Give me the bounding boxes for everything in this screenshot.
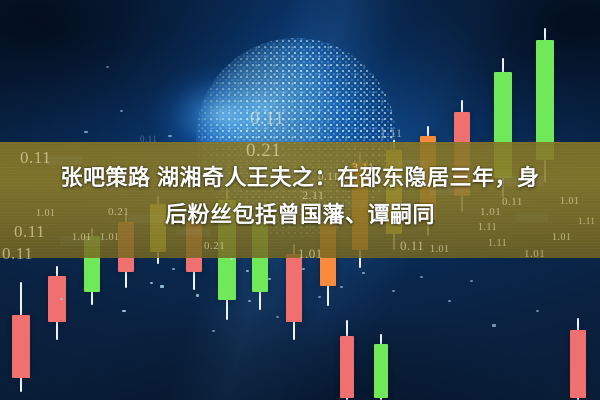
floating-number: 1.01 [298,246,323,262]
floating-number: 1.11 [380,126,403,141]
floating-number: 1.01 [72,232,92,243]
article-cover-image: 0.110.110.211.113.110.112.111.010.111.01… [0,0,600,400]
floating-number: 1.01 [430,244,450,255]
floating-number: 0.11 [140,134,157,144]
floating-number: 0.11 [2,244,33,264]
floating-number: 1.01 [524,248,545,260]
headline-text: 张吧策路 湖湘奇人王夫之：在邵东隐居三年，身 后粉丝包括曾国藩、谭嗣同 [0,159,600,233]
headline-line-1: 张吧策路 湖湘奇人王夫之：在邵东隐居三年，身 [60,165,539,190]
floating-number: 0.11 [250,108,285,130]
floating-number: 0.21 [204,240,225,252]
headline-line-2: 后粉丝包括曾国藩、谭嗣同 [0,196,600,233]
floating-number: 0.11 [400,238,424,254]
floating-number: 1.01 [100,232,120,243]
floating-number: 1.01 [552,232,572,243]
floating-number: 1.11 [488,238,507,249]
